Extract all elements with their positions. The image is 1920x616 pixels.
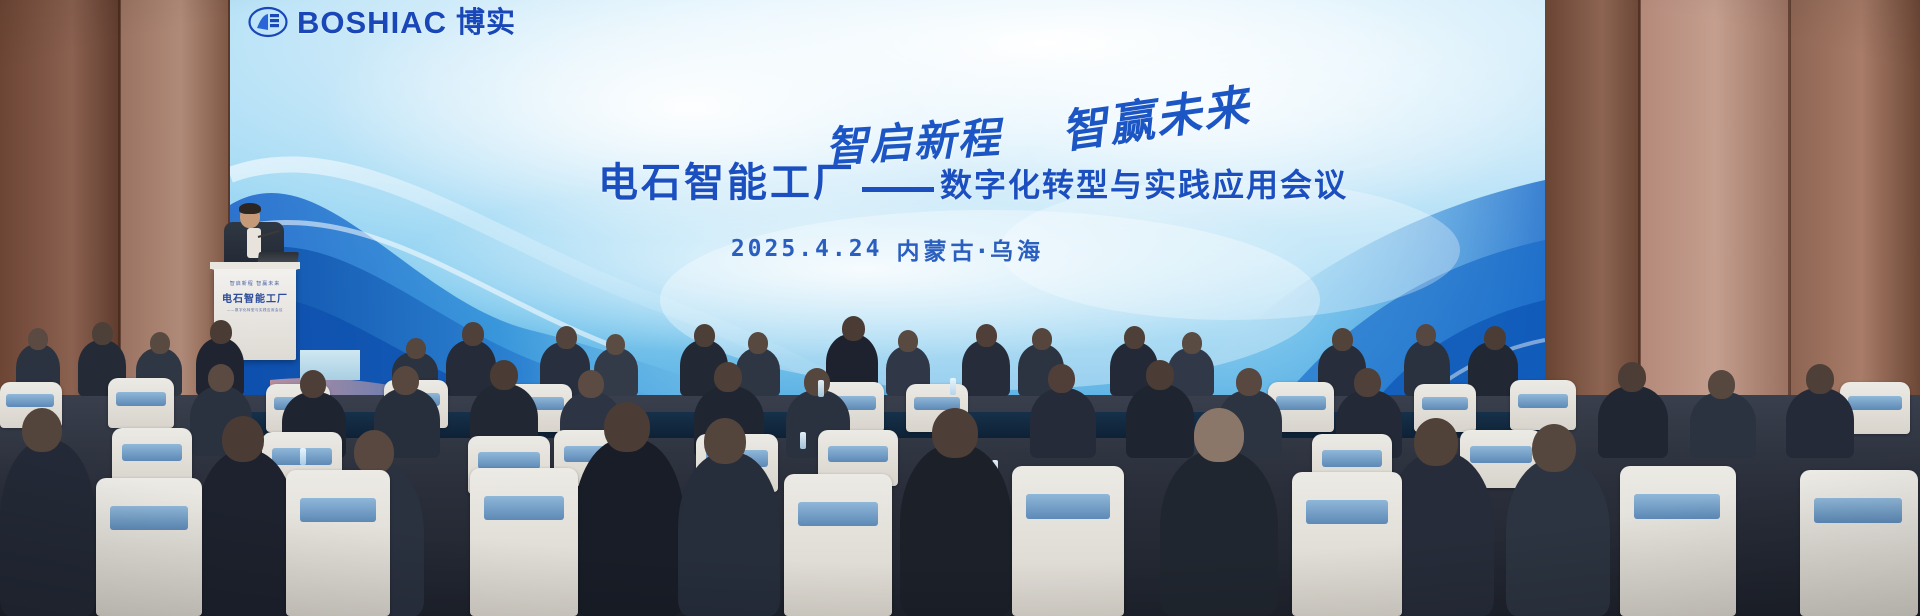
chair-seat-cover xyxy=(1470,446,1532,463)
chair xyxy=(784,474,892,616)
attendee-head xyxy=(714,362,742,392)
attendee-head xyxy=(392,366,419,395)
attendee xyxy=(1386,452,1494,616)
event-title-main: 电石智能工厂 xyxy=(598,163,856,203)
attendee-head xyxy=(898,330,918,352)
title-dash-rule xyxy=(862,187,934,192)
water-bottle xyxy=(818,380,824,397)
attendee xyxy=(678,452,780,616)
attendee-head xyxy=(1236,368,1262,396)
attendee-head xyxy=(1806,364,1834,394)
chair-seat-cover xyxy=(116,392,166,406)
attendee-head xyxy=(748,332,768,354)
attendee-head xyxy=(1414,418,1458,466)
attendee xyxy=(1126,384,1194,458)
attendee-head xyxy=(490,360,518,390)
water-bottle xyxy=(800,432,806,449)
attendee-head xyxy=(804,368,830,396)
chair-seat-cover xyxy=(1518,394,1568,408)
attendee-head xyxy=(1048,364,1075,393)
attendee xyxy=(196,450,296,616)
speaker-hair xyxy=(239,203,261,214)
attendee xyxy=(1598,386,1668,458)
podium-cap xyxy=(210,262,300,269)
chair-seat-cover xyxy=(1814,498,1902,523)
attendee-head xyxy=(406,338,426,359)
attendee-head xyxy=(1332,328,1353,351)
water-bottle xyxy=(300,448,306,465)
boshiac-roundel-icon xyxy=(248,6,288,38)
brand-logo: BOSHIAC 博实 xyxy=(248,6,516,38)
water-bottle xyxy=(950,378,956,395)
event-date: 2025.4.24 xyxy=(731,236,883,262)
attendee xyxy=(574,438,684,616)
chair-seat-cover xyxy=(1422,397,1468,410)
attendee-head xyxy=(210,320,232,344)
podium-branding: 智启新程 智赢未来 电石智能工厂 ——数字化转型与实践应用会议 xyxy=(222,280,288,313)
chair xyxy=(470,468,578,616)
chair-seat-cover xyxy=(1026,494,1110,519)
attendee-head xyxy=(556,326,577,349)
attendee-head xyxy=(300,370,326,398)
attendee-head xyxy=(28,328,48,350)
attendee-head xyxy=(1416,324,1436,346)
brand-name-en: BOSHIAC xyxy=(297,7,447,38)
attendee-head xyxy=(606,334,625,355)
podium-title: 电石智能工厂 xyxy=(222,290,288,305)
attendee-head xyxy=(1354,368,1381,397)
attendee-head xyxy=(1146,360,1174,390)
attendee-head xyxy=(604,402,650,452)
chair-seat-cover xyxy=(1634,494,1720,519)
attendee-head xyxy=(150,332,170,354)
attendee-head xyxy=(842,316,865,341)
attendee-head xyxy=(92,322,113,345)
attendee-head xyxy=(1032,328,1052,350)
conference-photo: 智启新程 智赢未来 电石智能工厂 数字化转型与实践应用会议 2025.4.24 … xyxy=(0,0,1920,616)
chair-seat-cover xyxy=(1306,500,1388,524)
event-title-sub: 数字化转型与实践应用会议 xyxy=(940,169,1348,203)
event-title-row: 电石智能工厂 数字化转型与实践应用会议 xyxy=(598,163,1478,203)
chair-seat-cover xyxy=(110,506,188,530)
attendee-head xyxy=(22,408,62,452)
attendee xyxy=(1786,388,1854,458)
chair xyxy=(286,470,390,616)
chair-seat-cover xyxy=(300,498,376,522)
attendee-head xyxy=(1124,326,1145,349)
attendee xyxy=(900,444,1012,616)
attendee-head xyxy=(1618,362,1646,392)
chair xyxy=(96,478,202,616)
podium-slogan: 智启新程 智赢未来 xyxy=(222,280,288,287)
attendee xyxy=(1690,392,1756,458)
attendee xyxy=(1160,450,1278,616)
chair-seat-cover xyxy=(828,446,888,462)
attendee-head xyxy=(1532,424,1576,472)
event-location: 内蒙古·乌海 xyxy=(896,232,1044,266)
attendee-head xyxy=(976,324,997,347)
chair xyxy=(1800,470,1918,616)
attendee-head xyxy=(354,430,394,474)
chair-seat-cover xyxy=(122,444,182,461)
attendee-head xyxy=(1484,326,1506,350)
attendee-head xyxy=(1194,408,1244,462)
attendee-head xyxy=(1182,332,1202,354)
attendee-head xyxy=(578,370,604,398)
attendee-head xyxy=(704,418,746,464)
attendee-head xyxy=(462,322,484,346)
attendee-head xyxy=(222,416,264,462)
attendee xyxy=(1030,388,1096,458)
attendee xyxy=(962,340,1010,396)
event-datebar: 2025.4.24 内蒙古·乌海 xyxy=(230,232,1545,266)
attendee-head xyxy=(932,408,978,458)
chair-seat-cover xyxy=(6,394,54,407)
chair xyxy=(1620,466,1736,616)
attendee-head xyxy=(208,364,234,392)
chair-seat-cover xyxy=(478,452,540,469)
attendee xyxy=(1506,458,1610,616)
brand-name-cn: 博实 xyxy=(456,8,516,37)
chair-seat-cover xyxy=(484,496,564,520)
chair-seat-cover xyxy=(1848,396,1902,410)
chair xyxy=(1292,472,1402,616)
attendee-head xyxy=(694,324,715,347)
chair xyxy=(1012,466,1124,616)
chair-seat-cover xyxy=(1322,450,1382,467)
attendee xyxy=(0,440,96,616)
chair-seat-cover xyxy=(1276,396,1326,410)
attendee-head xyxy=(1708,370,1735,399)
podium-subtitle: ——数字化转型与实践应用会议 xyxy=(222,308,288,313)
chair-seat-cover xyxy=(798,502,878,526)
